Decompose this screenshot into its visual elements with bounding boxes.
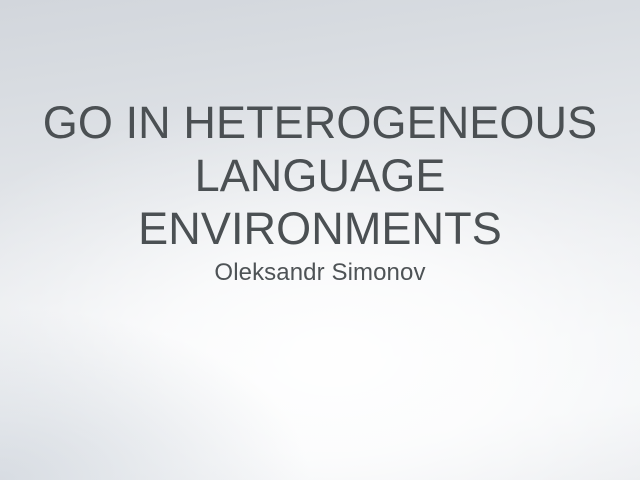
slide-title: GO IN HETEROGENEOUS LANGUAGE ENVIRONMENT… [0,96,640,255]
presentation-slide: GO IN HETEROGENEOUS LANGUAGE ENVIRONMENT… [0,0,640,480]
slide-content: GO IN HETEROGENEOUS LANGUAGE ENVIRONMENT… [0,0,640,480]
slide-subtitle-author: Oleksandr Simonov [0,258,640,288]
